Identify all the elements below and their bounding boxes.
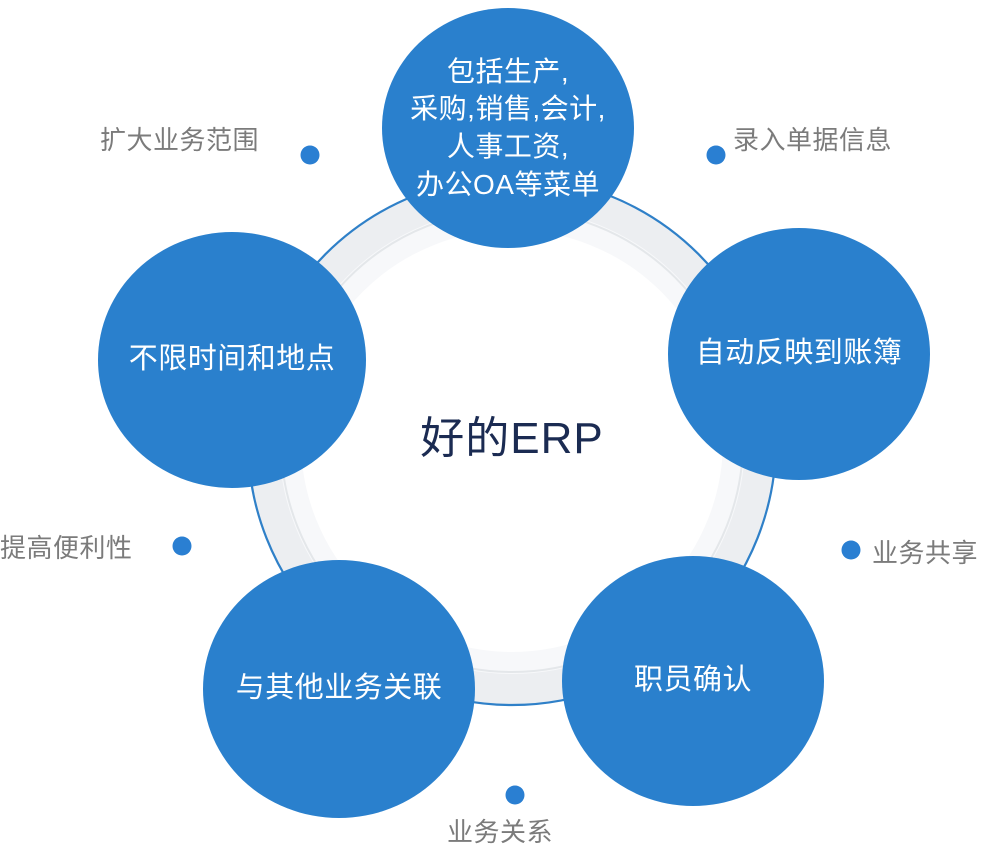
node-anytime-anywhere[interactable]: 不限时间和地点 [98, 232, 366, 488]
node-anytime-anywhere-label: 不限时间和地点 [129, 341, 336, 378]
connector-dot-left[interactable] [173, 537, 192, 556]
node-staff-confirmation-label: 职员确认 [634, 662, 752, 699]
diagram-canvas: 包括生产, 采购,销售,会计, 人事工资, 办公OA等菜单 自动反映到账簿 职员… [0, 0, 1000, 855]
node-menu-coverage[interactable]: 包括生产, 采购,销售,会计, 人事工资, 办公OA等菜单 [382, 8, 634, 248]
outer-label-expand-scope: 扩大业务范围 [100, 120, 259, 157]
outer-label-business-relationship: 业务关系 [447, 812, 553, 849]
outer-label-enter-voucher: 录入单据信息 [733, 120, 892, 157]
outer-label-improve-convenience: 提高便利性 [0, 528, 133, 565]
connector-dot-top-left[interactable] [301, 146, 320, 165]
node-menu-coverage-label: 包括生产, 采购,销售,会计, 人事工资, 办公OA等菜单 [410, 53, 606, 203]
connector-dot-right[interactable] [842, 541, 861, 560]
node-staff-confirmation[interactable]: 职员确认 [562, 556, 824, 806]
node-link-other-business[interactable]: 与其他业务关联 [203, 560, 475, 818]
connector-dot-top-right[interactable] [707, 146, 726, 165]
center-title: 好的ERP [356, 402, 668, 466]
connector-dot-bottom[interactable] [506, 786, 525, 805]
outer-label-business-share: 业务共享 [872, 533, 978, 570]
node-auto-reflect-to-ledger-label: 自动反映到账簿 [696, 335, 903, 372]
node-auto-reflect-to-ledger[interactable]: 自动反映到账簿 [668, 228, 930, 480]
node-link-other-business-label: 与其他业务关联 [236, 670, 443, 707]
